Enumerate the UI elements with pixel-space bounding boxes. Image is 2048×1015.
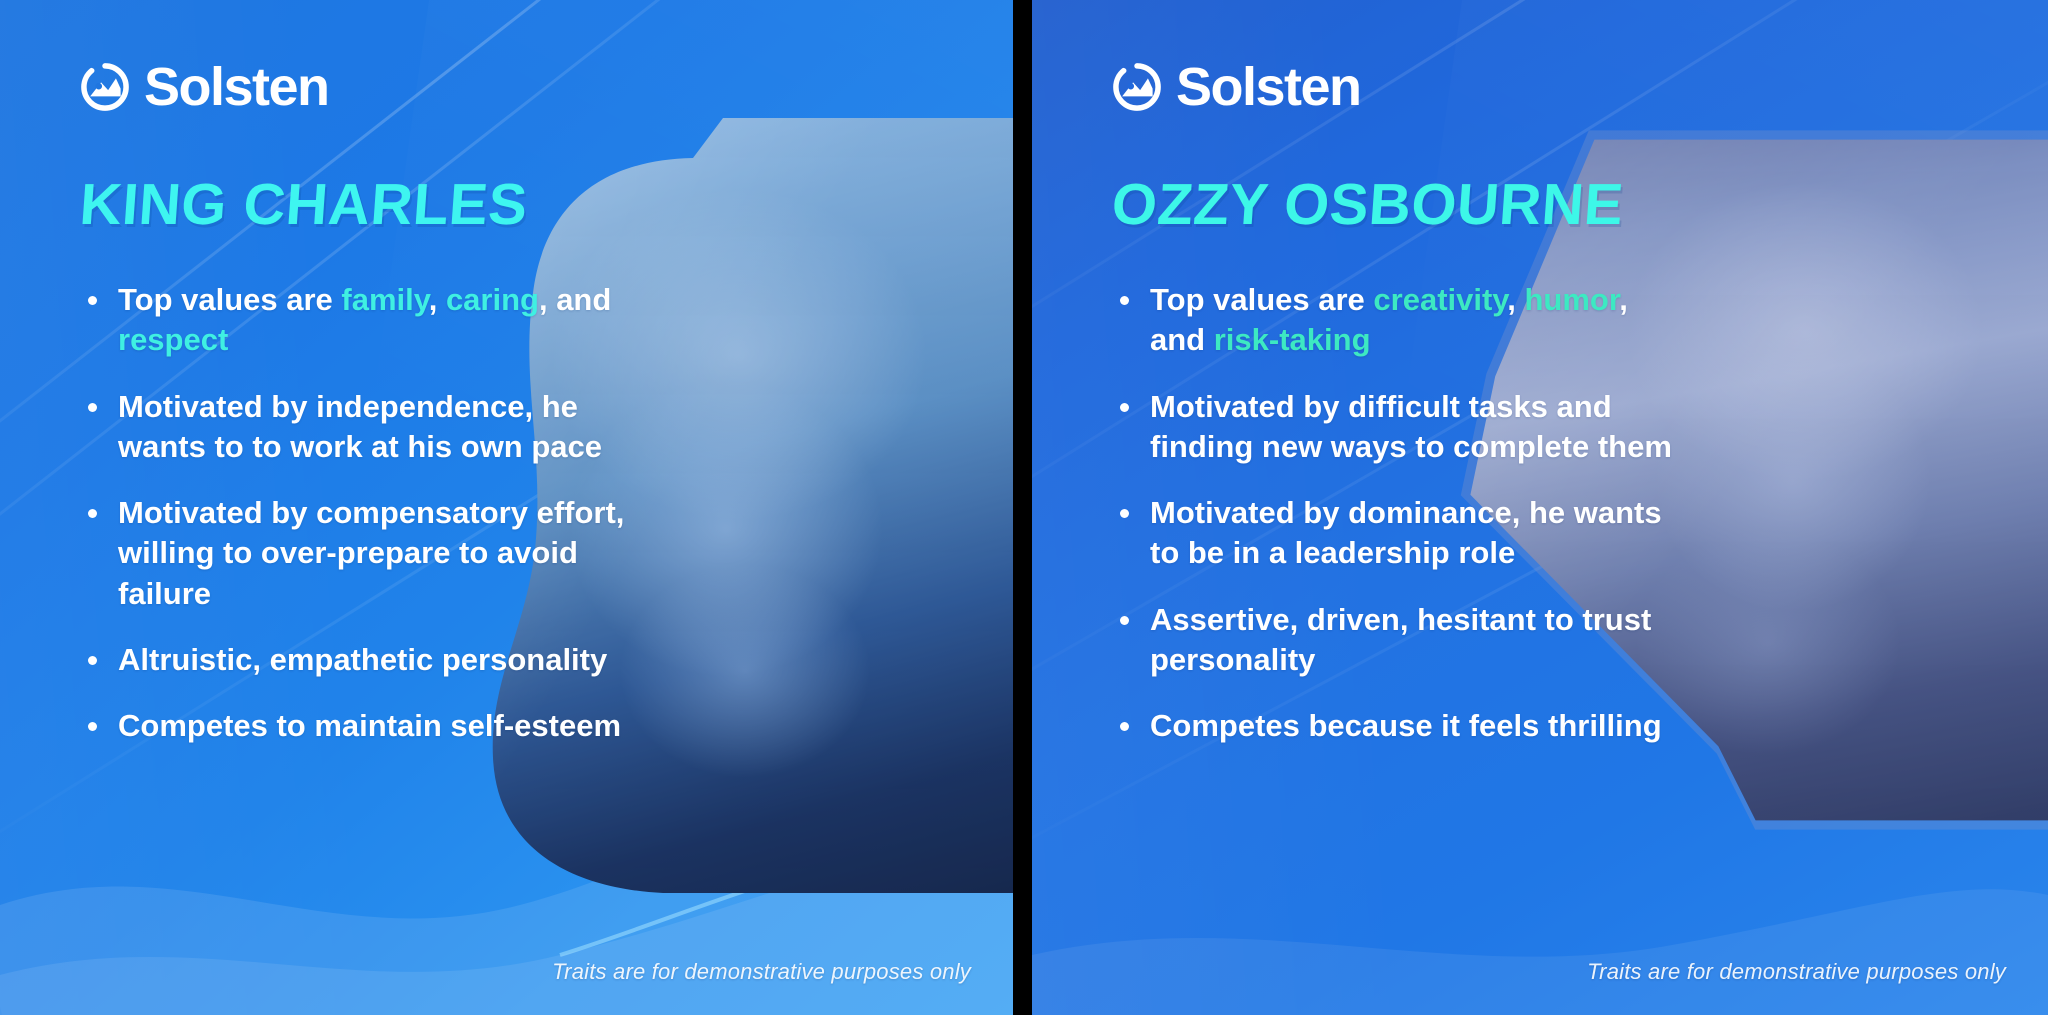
list-item: Motivated by compensatory effort, willin… xyxy=(80,493,640,614)
list-item: Motivated by independence, he wants to t… xyxy=(80,387,640,468)
panel-ozzy-osbourne: Solsten OZZY OSBOURNE Top values are cre… xyxy=(1032,0,2048,1015)
trait-text: Competes because it feels thrilling xyxy=(1150,708,1662,743)
disclaimer-note-right: Traits are for demonstrative purposes on… xyxy=(1587,959,2006,985)
panel-content-right: Solsten OZZY OSBOURNE Top values are cre… xyxy=(1032,0,1672,747)
comparison-stage: Solsten KING CHARLES Top values are fami… xyxy=(0,0,2048,1015)
trait-text: Altruistic, empathetic personality xyxy=(118,642,607,677)
trait-highlight: family xyxy=(341,282,428,317)
list-item: Competes because it feels thrilling xyxy=(1112,706,1672,746)
trait-highlight: creativity xyxy=(1373,282,1507,317)
trait-text: Motivated by compensatory effort, willin… xyxy=(118,495,624,611)
list-item: Top values are creativity, humor, and ri… xyxy=(1112,280,1672,361)
trait-highlight: risk-taking xyxy=(1214,322,1371,357)
panel-divider xyxy=(1013,0,1032,1015)
page-title-right: OZZY OSBOURNE xyxy=(1110,176,1674,234)
trait-text: Top values are xyxy=(1150,282,1373,317)
trait-text: Motivated by difficult tasks and finding… xyxy=(1150,389,1672,464)
trait-text: Competes to maintain self-esteem xyxy=(118,708,621,743)
list-item: Motivated by difficult tasks and finding… xyxy=(1112,387,1672,468)
trait-text: Assertive, driven, hesitant to trust per… xyxy=(1150,602,1651,677)
list-item: Assertive, driven, hesitant to trust per… xyxy=(1112,600,1672,681)
list-item: Motivated by dominance, he wants to be i… xyxy=(1112,493,1672,574)
trait-text: Top values are xyxy=(118,282,341,317)
trait-list-right: Top values are creativity, humor, and ri… xyxy=(1112,280,1672,747)
page-title-left: KING CHARLES xyxy=(78,176,642,234)
brand-logo-left[interactable]: Solsten xyxy=(80,60,640,114)
trait-highlight: respect xyxy=(118,322,228,357)
solsten-mountain-logo-icon xyxy=(1112,62,1162,112)
trait-text: , xyxy=(1507,282,1524,317)
brand-logo-right[interactable]: Solsten xyxy=(1112,60,1672,114)
brand-name-left: Solsten xyxy=(144,60,329,114)
trait-highlight: caring xyxy=(446,282,539,317)
trait-text: Motivated by dominance, he wants to be i… xyxy=(1150,495,1662,570)
trait-highlight: humor xyxy=(1524,282,1619,317)
panel-content-left: Solsten KING CHARLES Top values are fami… xyxy=(0,0,640,747)
trait-list-left: Top values are family, caring, and respe… xyxy=(80,280,640,747)
disclaimer-note-left: Traits are for demonstrative purposes on… xyxy=(552,959,971,985)
list-item: Competes to maintain self-esteem xyxy=(80,706,640,746)
trait-text: , xyxy=(429,282,446,317)
brand-name-right: Solsten xyxy=(1176,60,1361,114)
panel-king-charles: Solsten KING CHARLES Top values are fami… xyxy=(0,0,1013,1015)
trait-text: , and xyxy=(539,282,611,317)
list-item: Top values are family, caring, and respe… xyxy=(80,280,640,361)
list-item: Altruistic, empathetic personality xyxy=(80,640,640,680)
trait-text: Motivated by independence, he wants to t… xyxy=(118,389,602,464)
solsten-mountain-logo-icon xyxy=(80,62,130,112)
